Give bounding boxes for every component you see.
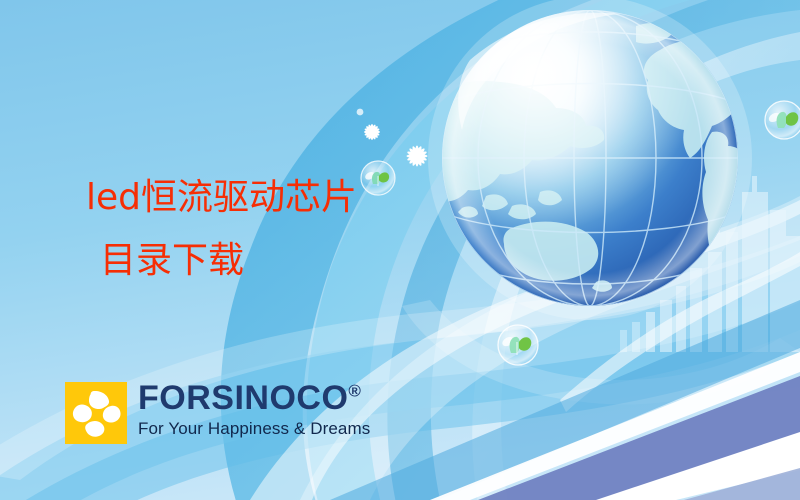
bubble-icon bbox=[765, 101, 800, 139]
headline-line-2: 目录下载 bbox=[86, 229, 506, 292]
company-logo[interactable]: FORSINOCO® For Your Happiness & Dreams bbox=[65, 381, 370, 444]
headline-text: led恒流驱动芯片 目录下载 bbox=[86, 166, 506, 292]
banner-image: led恒流驱动芯片 目录下载 FORSINOCO® For Your Happi… bbox=[0, 0, 800, 500]
brand-tagline: For Your Happiness & Dreams bbox=[138, 419, 370, 438]
headline-line-1: led恒流驱动芯片 bbox=[86, 177, 357, 218]
logo-wordmark: FORSINOCO® For Your Happiness & Dreams bbox=[138, 381, 370, 438]
bubble-icon bbox=[498, 325, 538, 365]
brand-name: FORSINOCO® bbox=[138, 381, 370, 415]
flower-icon bbox=[406, 145, 427, 166]
logo-mark-icon bbox=[65, 382, 127, 444]
registered-trademark-icon: ® bbox=[348, 382, 361, 401]
brand-name-text: FORSINOCO bbox=[138, 379, 348, 417]
